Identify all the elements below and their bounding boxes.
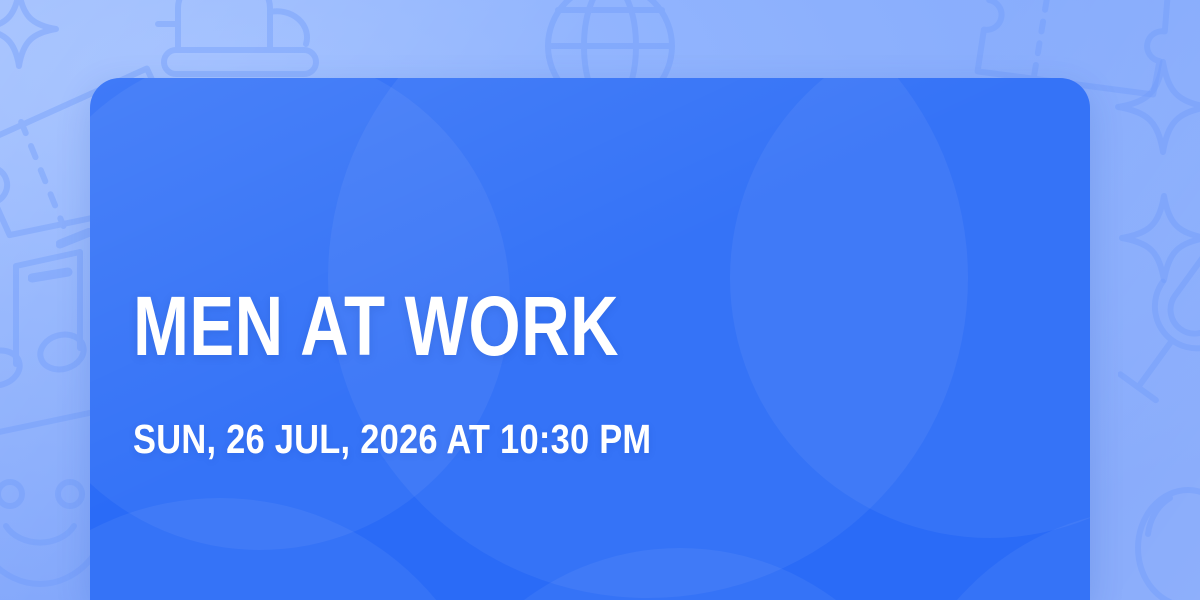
- event-card[interactable]: MEN AT WORK SUN, 26 JUL, 2026 AT 10:30 P…: [90, 78, 1090, 600]
- event-datetime: SUN, 26 JUL, 2026 AT 10:30 PM: [133, 419, 651, 460]
- confetti-stroke-icon: [28, 264, 74, 286]
- sparkle-icon: [1108, 52, 1200, 162]
- balloon-icon: [1118, 486, 1200, 600]
- event-title: MEN AT WORK: [133, 284, 619, 368]
- sparkle-icon: [0, 0, 64, 74]
- microphone-icon: [1118, 232, 1200, 422]
- event-banner: MEN AT WORK SUN, 26 JUL, 2026 AT 10:30 P…: [0, 0, 1200, 600]
- card-content: MEN AT WORK SUN, 26 JUL, 2026 AT 10:30 P…: [133, 78, 1050, 600]
